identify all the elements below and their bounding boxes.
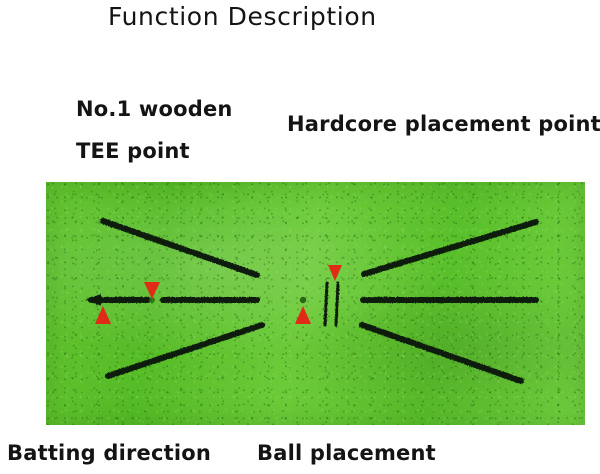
page-title: Function Description bbox=[108, 4, 377, 29]
label-ball-placement: Ball placement bbox=[257, 443, 436, 464]
golf-practice-mat bbox=[46, 182, 585, 425]
lower-right-diagonal-line bbox=[362, 325, 521, 381]
upper-left-diagonal-line bbox=[103, 221, 257, 275]
mat-markings bbox=[46, 182, 585, 425]
hardcore-vertical-line-right bbox=[336, 283, 338, 325]
lower-left-diagonal-line bbox=[108, 325, 262, 376]
ball-placement-dot bbox=[300, 297, 306, 303]
label-tee-point-line2: TEE point bbox=[76, 141, 190, 162]
hardcore-vertical-line-left bbox=[325, 283, 327, 325]
upper-right-diagonal-line bbox=[364, 222, 536, 274]
tee-point-dot bbox=[149, 297, 155, 303]
batting-direction-arrowhead bbox=[85, 294, 101, 306]
function-description-diagram: Function Description bbox=[0, 0, 600, 474]
label-batting-direction: Batting direction bbox=[7, 443, 211, 464]
label-hardcore-placement-point: Hardcore placement point bbox=[287, 114, 600, 135]
label-tee-point-line1: No.1 wooden bbox=[76, 99, 233, 120]
